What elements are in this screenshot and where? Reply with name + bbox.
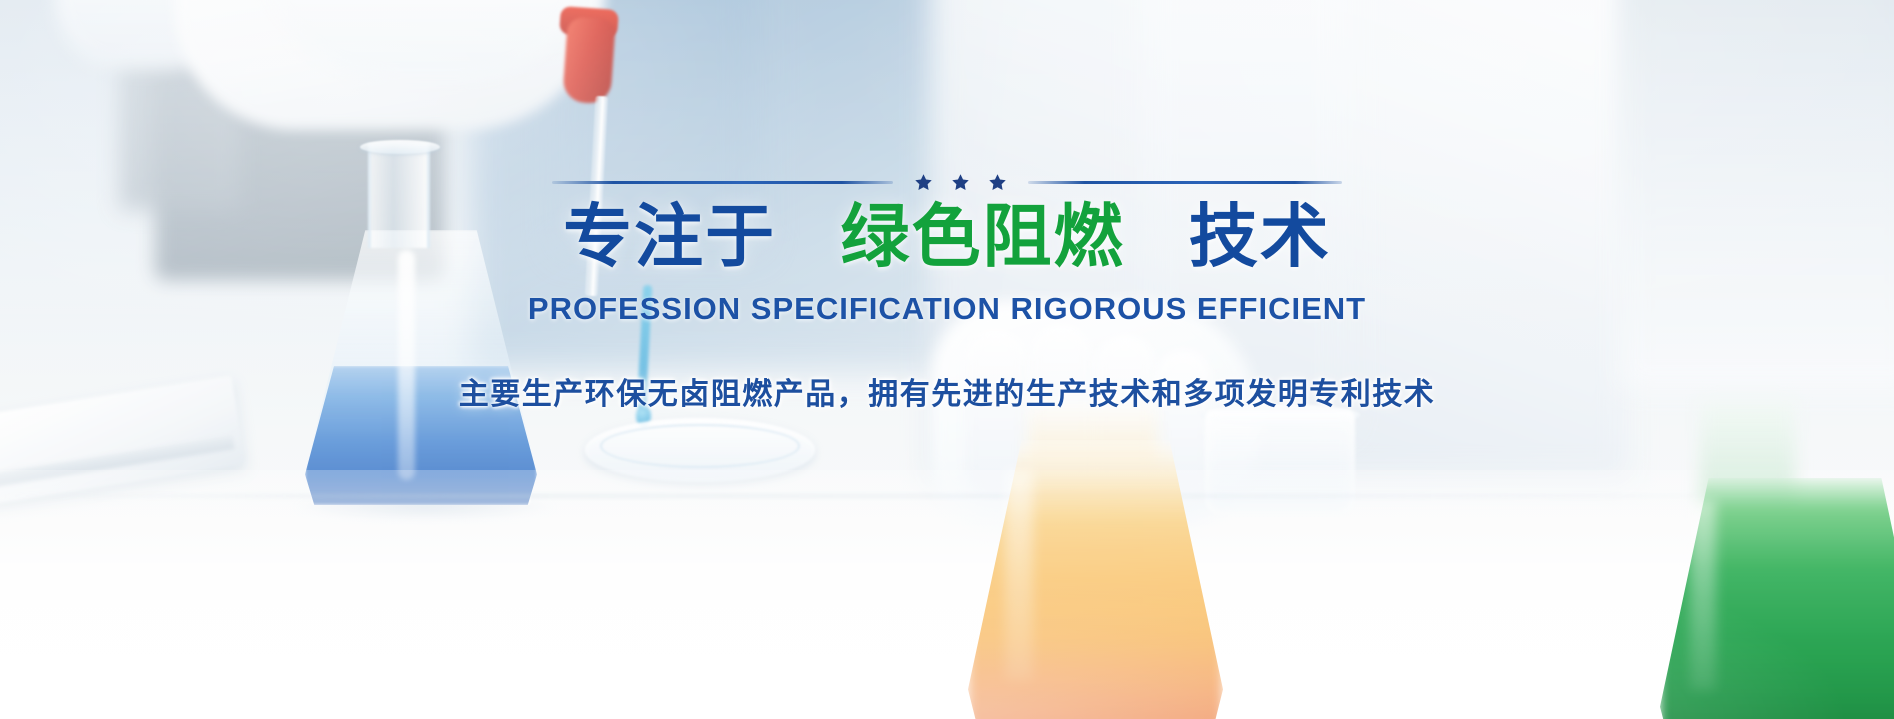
headline-part-3: 技术 bbox=[1189, 198, 1331, 275]
star-icon bbox=[950, 172, 971, 193]
banner-content: 专注于 绿色阻燃 技术 PROFESSION SPECIFICATION RIG… bbox=[0, 0, 1894, 719]
page-subtitle: PROFESSION SPECIFICATION RIGOROUS EFFICI… bbox=[528, 291, 1366, 327]
page-tagline: 主要生产环保无卤阻燃产品，拥有先进的生产技术和多项发明专利技术 bbox=[459, 369, 1436, 413]
star-group bbox=[913, 172, 1008, 193]
hero-banner: 专注于 绿色阻燃 技术 PROFESSION SPECIFICATION RIG… bbox=[0, 0, 1894, 719]
divider-rule-left bbox=[552, 181, 893, 184]
decorative-divider bbox=[552, 168, 1342, 196]
star-icon bbox=[913, 172, 934, 193]
star-icon bbox=[987, 172, 1008, 193]
headline-part-1: 专注于 bbox=[563, 198, 776, 275]
page-title: 专注于 绿色阻燃 技术 bbox=[563, 200, 1331, 275]
divider-rule-right bbox=[1028, 181, 1342, 184]
headline-part-2: 绿色阻燃 bbox=[841, 198, 1125, 275]
